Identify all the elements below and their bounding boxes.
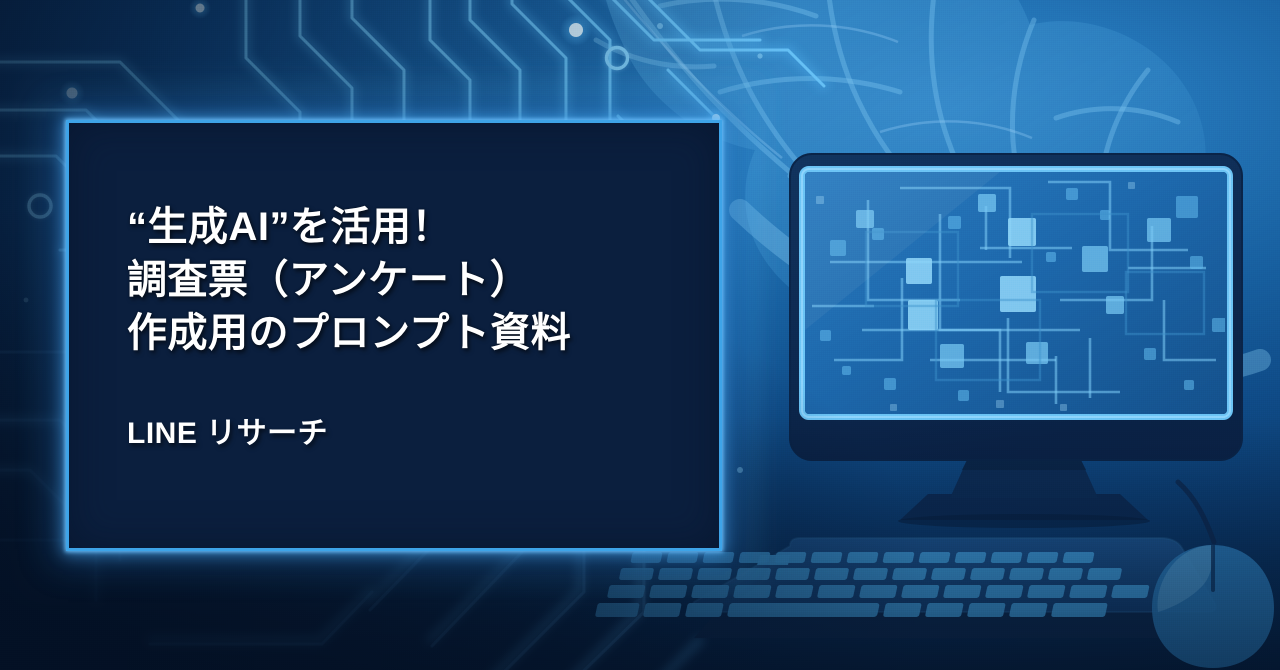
- title-line-1: “生成AI”を活用！: [127, 201, 699, 254]
- computer-mouse: [1152, 482, 1274, 668]
- mouse-cable: [1178, 482, 1214, 542]
- title-card-content: “生成AI”を活用！ 調査票（アンケート） 作成用のプロンプト資料 LINE リ…: [127, 201, 699, 452]
- title-line-2: 調査票（アンケート）: [127, 254, 699, 307]
- title-line-3: 作成用のプロンプト資料: [127, 307, 699, 360]
- banner-canvas: “生成AI”を活用！ 調査票（アンケート） 作成用のプロンプト資料 LINE リ…: [0, 0, 1280, 670]
- brand-lockup: LINE リサーチ: [127, 408, 699, 452]
- desktop-monitor: [790, 154, 1242, 528]
- spacebar-key: [727, 603, 880, 617]
- monitor-screen: [805, 172, 1240, 414]
- title-card: “生成AI”を活用！ 調査票（アンケート） 作成用のプロンプト資料 LINE リ…: [66, 120, 722, 551]
